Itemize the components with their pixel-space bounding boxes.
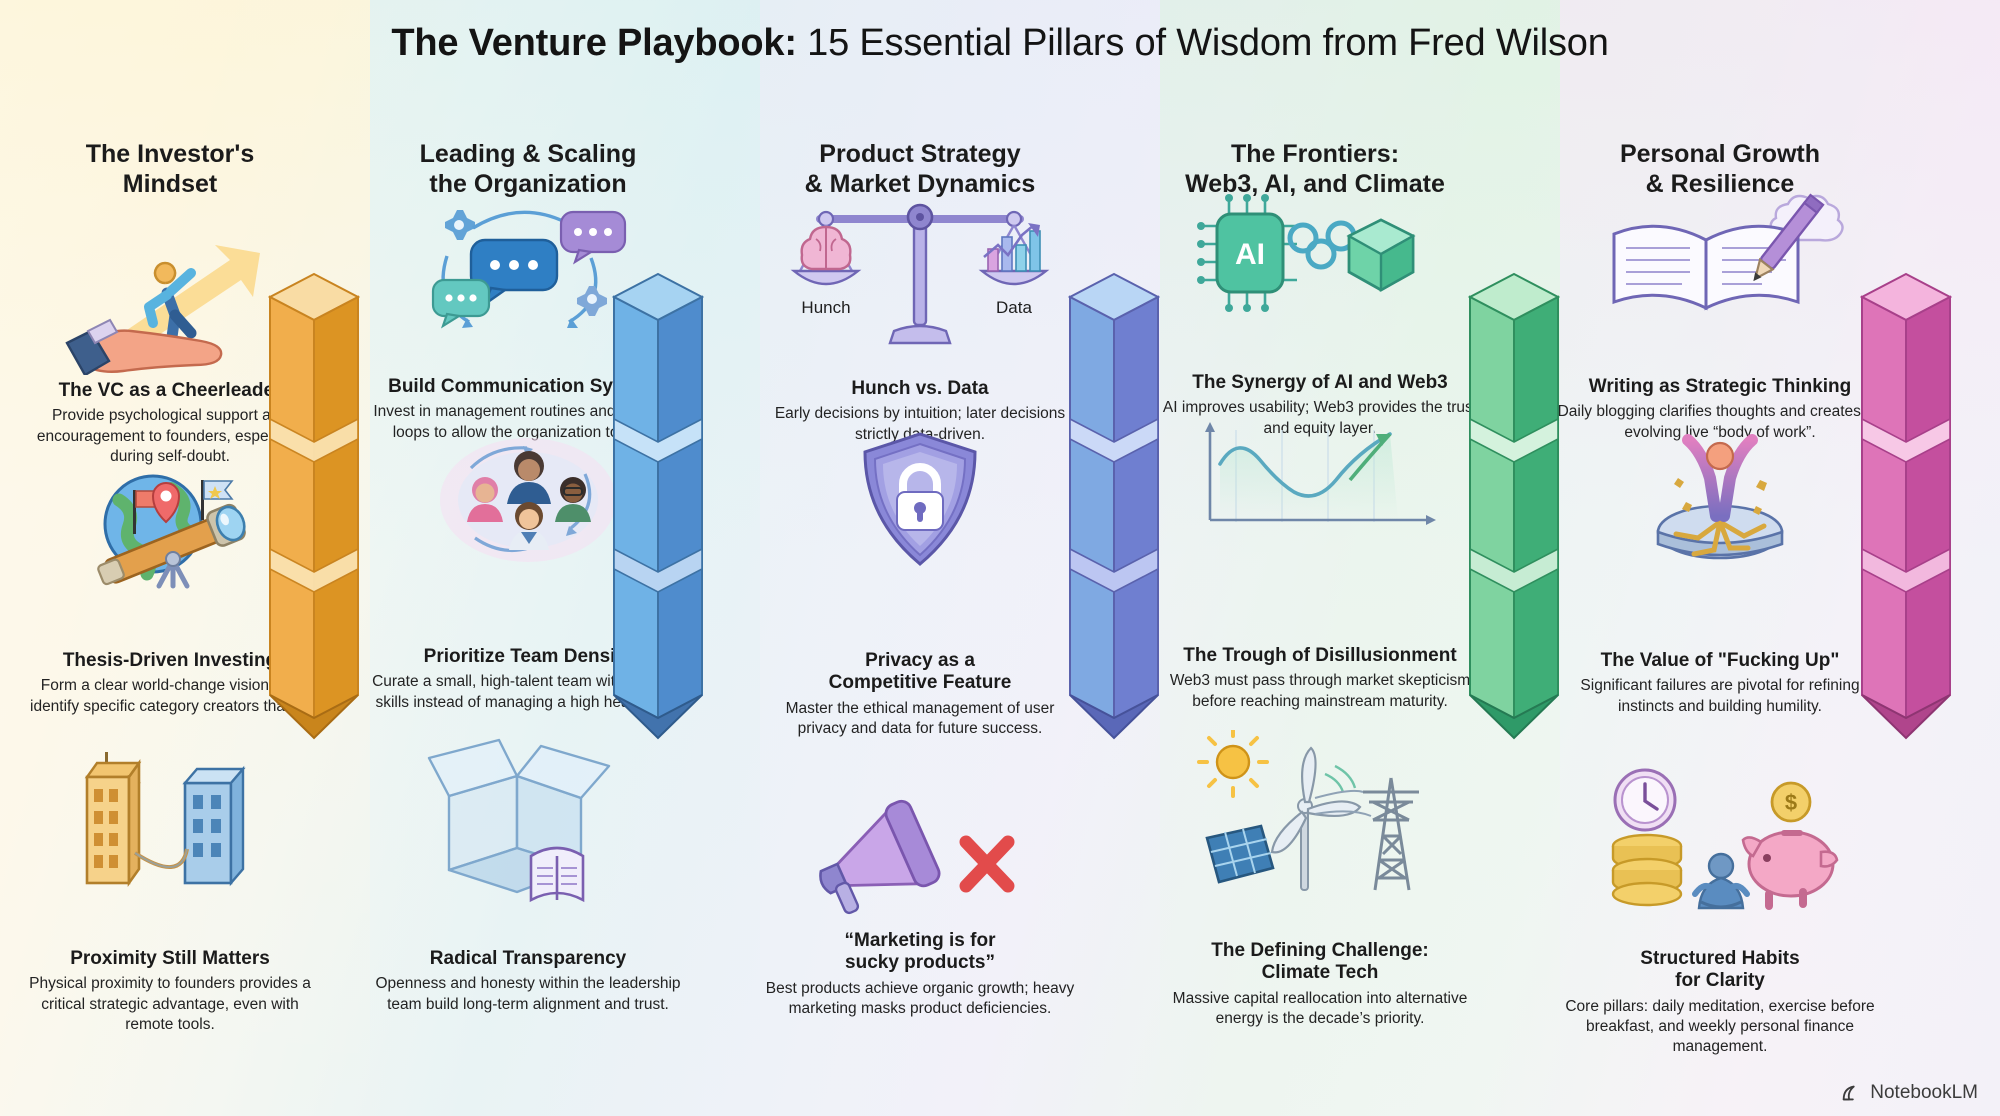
column-heading-2: Leading & Scaling the Organization bbox=[378, 140, 678, 199]
pillar-bar-5 bbox=[1860, 272, 1952, 747]
item-title: The Trough of Disillusionment bbox=[1160, 645, 1480, 667]
item-body: Web3 must pass through market skepticism… bbox=[1160, 671, 1480, 711]
megaphone-cross-icon bbox=[760, 790, 1080, 930]
item-radical-transparency: Radical Transparency Openness and honest… bbox=[368, 948, 688, 1015]
figure-rising-from-cracked-ground-icon bbox=[1555, 420, 1885, 570]
item-title: The Defining Challenge: Climate Tech bbox=[1160, 940, 1480, 985]
item-value-of-fucking-up: The Value of "Fucking Up" Significant fa… bbox=[1555, 650, 1885, 717]
open-book-pencil-thought-icon bbox=[1560, 190, 1890, 330]
item-body: Massive capital reallocation into altern… bbox=[1160, 989, 1480, 1029]
pillar-bar-1 bbox=[268, 272, 360, 747]
item-structured-habits-for-clarity: Structured Habits for Clarity Core pilla… bbox=[1545, 948, 1895, 1057]
ai-chip-blockchain-icon: AI bbox=[1160, 192, 1470, 322]
item-title: The Value of "Fucking Up" bbox=[1555, 650, 1885, 672]
balance-scale-brain-chart-icon: Hunch Data bbox=[760, 195, 1080, 360]
item-title: Radical Transparency bbox=[368, 948, 688, 970]
item-title: The Synergy of AI and Web3 bbox=[1160, 372, 1480, 394]
item-privacy-as-a-competitive-feature: Privacy as a Competitive Feature Master … bbox=[760, 650, 1080, 739]
page-title-strong: The Venture Playbook: bbox=[391, 22, 796, 64]
pillar-bar-4 bbox=[1468, 272, 1560, 747]
item-trough-of-disillusionment: The Trough of Disillusionment Web3 must … bbox=[1160, 645, 1480, 712]
pillar-bar-2 bbox=[612, 272, 704, 747]
item-title: Structured Habits for Clarity bbox=[1545, 948, 1895, 993]
item-title: “Marketing is for sucky products” bbox=[760, 930, 1080, 975]
item-body: Significant failures are pivotal for ref… bbox=[1555, 676, 1885, 716]
column-heading-3: Product Strategy & Market Dynamics bbox=[770, 140, 1070, 199]
item-body: Core pillars: daily meditation, exercise… bbox=[1545, 997, 1895, 1057]
notebooklm-label: NotebookLM bbox=[1870, 1082, 1978, 1104]
scale-label-data: Data bbox=[996, 298, 1032, 317]
item-body: Physical proximity to founders provides … bbox=[20, 974, 320, 1034]
shield-lock-icon bbox=[760, 430, 1080, 570]
item-title: Privacy as a Competitive Feature bbox=[760, 650, 1080, 695]
ai-chip-label: AI bbox=[1235, 238, 1265, 271]
scale-label-hunch: Hunch bbox=[801, 298, 850, 317]
item-defining-challenge-climate-tech: The Defining Challenge: Climate Tech Mas… bbox=[1160, 940, 1480, 1029]
notebooklm-icon bbox=[1840, 1082, 1862, 1104]
page-title-light: 15 Essential Pillars of Wisdom from Fred… bbox=[797, 22, 1609, 64]
item-body: Openness and honesty within the leadersh… bbox=[368, 974, 688, 1014]
item-marketing-is-for-sucky-products: “Marketing is for sucky products” Best p… bbox=[760, 930, 1080, 1019]
page-title: The Venture Playbook: 15 Essential Pilla… bbox=[0, 22, 2000, 65]
item-title: Hunch vs. Data bbox=[760, 378, 1080, 400]
item-title: Writing as Strategic Thinking bbox=[1555, 376, 1885, 398]
infographic-canvas: The Venture Playbook: 15 Essential Pilla… bbox=[0, 0, 2000, 1116]
svg-text:$: $ bbox=[1785, 790, 1797, 815]
clock-coins-piggybank-meditation-icon: $ bbox=[1555, 760, 1885, 940]
two-buildings-bridge-icon bbox=[20, 735, 320, 935]
column-heading-4: The Frontiers: Web3, AI, and Climate bbox=[1165, 140, 1465, 199]
item-title: Proximity Still Matters bbox=[20, 948, 320, 970]
column-leading-scaling: Leading & Scaling the Organization bbox=[378, 140, 678, 205]
column-investors-mindset: The Investor's Mindset bbox=[20, 140, 320, 205]
item-body: Master the ethical management of user pr… bbox=[760, 699, 1080, 739]
open-glass-box-book-icon bbox=[378, 736, 678, 936]
item-proximity-still-matters: Proximity Still Matters Physical proximi… bbox=[20, 948, 320, 1035]
column-heading-1: The Investor's Mindset bbox=[20, 140, 320, 199]
solar-wind-powerline-icon bbox=[1160, 730, 1480, 920]
item-body: Best products achieve organic growth; he… bbox=[760, 979, 1080, 1019]
pillar-bar-3 bbox=[1068, 272, 1160, 747]
notebooklm-watermark: NotebookLM bbox=[1840, 1082, 1978, 1104]
hype-cycle-curve-chart-icon bbox=[1160, 420, 1480, 550]
